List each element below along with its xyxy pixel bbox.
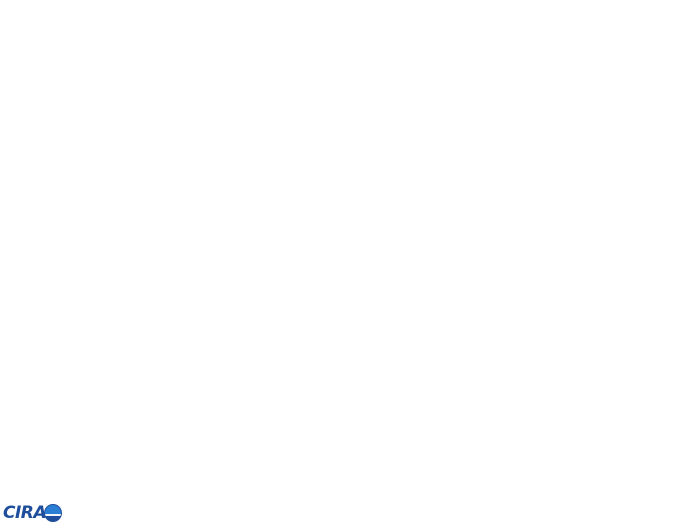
cira-logo: CIRA bbox=[3, 503, 62, 523]
cira-logo-text: CIRA bbox=[3, 503, 46, 523]
globe-icon bbox=[44, 504, 62, 522]
